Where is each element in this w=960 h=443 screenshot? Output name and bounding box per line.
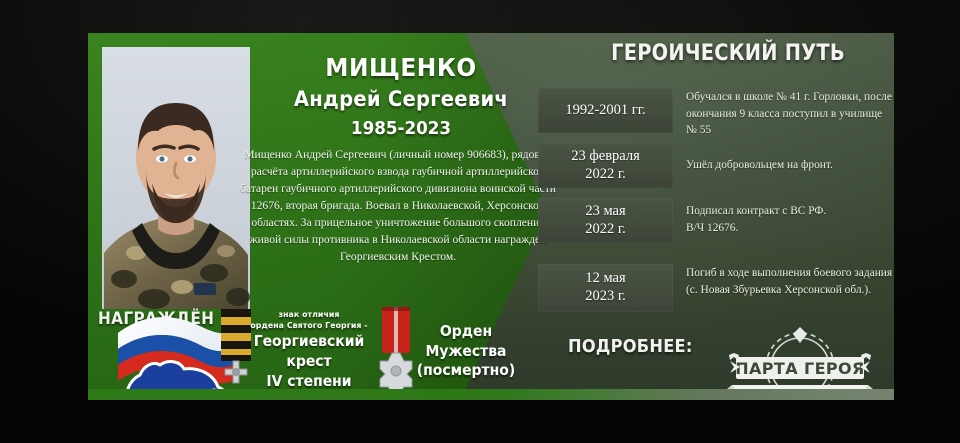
award2-big-line-1: Орден: [410, 323, 522, 341]
hero-surname: МИЩЕНКО: [266, 55, 536, 81]
award-georgievsky-cross-text: знак отличия ордена Святого Георгия - Ге…: [241, 309, 377, 390]
heroic-path-title: ГЕРОИЧЕСКИЙ ПУТЬ: [578, 41, 877, 66]
hero-biography-text: Мищенко Андрей Сергеевич (личный номер 9…: [238, 146, 558, 265]
timeline-desc-3: Погиб в ходе выполнения боевого задания …: [686, 265, 894, 298]
timeline-date-3: 12 мая 2023 г.: [538, 264, 673, 312]
memorial-slide-panel: МИЩЕНКО Андрей Сергеевич 1985-2023 Мищен…: [88, 33, 894, 400]
timeline-date-2: 23 мая 2022 г.: [538, 198, 673, 243]
hero-portrait-photo: [102, 47, 250, 309]
timeline-desc-0: Обучался в школе № 41 г. Горловки, после…: [686, 89, 894, 139]
panel-bottom-strip-fade: [518, 389, 894, 400]
hero-life-years: 1985-2023: [266, 118, 536, 139]
award-order-of-courage-text: Орден Мужества (посмертно): [406, 321, 526, 380]
timeline-date-0: 1992-2001 гг.: [538, 88, 673, 133]
award2-big-line-2: Мужества: [410, 343, 522, 361]
award-small-line-1: знак отличия: [244, 309, 373, 320]
parta-title-text: ПАРТА ГЕРОЯ: [735, 359, 865, 378]
timeline-date-1: 23 февраля 2022 г.: [538, 143, 673, 188]
award-small-line-2: ордена Святого Георгия -: [244, 320, 373, 331]
award-big-line-1: Георгиевский: [246, 333, 372, 351]
more-info-label: ПОДРОБНЕЕ:: [568, 336, 693, 357]
award-big-line-2: крест: [246, 353, 372, 371]
hero-given-name: Андрей Сергеевич: [266, 88, 536, 110]
award2-big-line-3: (посмертно): [410, 362, 522, 380]
award-big-line-3: IV степени: [246, 373, 372, 391]
timeline-desc-1: Ушёл добровольцем на фронт.: [686, 157, 894, 174]
slide-screenshot: МИЩЕНКО Андрей Сергеевич 1985-2023 Мищен…: [0, 0, 960, 443]
timeline-desc-2: Подписал контракт с ВС РФ. В/Ч 12676.: [686, 203, 894, 236]
